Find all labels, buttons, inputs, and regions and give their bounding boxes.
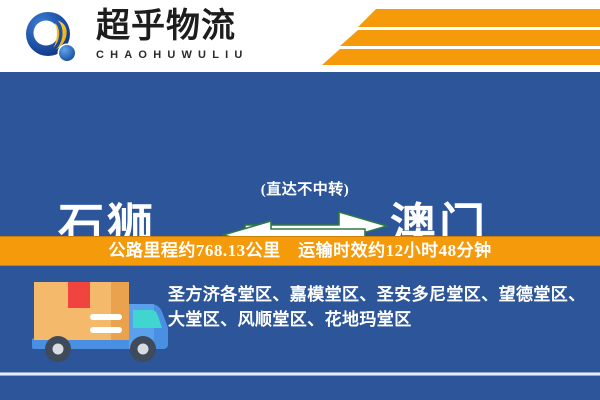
logistics-route-banner: 超乎物流 CHAOHUWULIU 石狮 (直达不中转) — [0, 0, 600, 400]
direct-shipping-note: (直达不中转) — [215, 180, 395, 200]
brand-wordmark: 超乎物流 CHAOHUWULIU — [96, 8, 266, 62]
distance-duration-text: 公路里程约768.13公里 运输时效约12小时48分钟 — [108, 241, 491, 261]
speed-stripes-icon — [270, 0, 600, 72]
brand-name-en: CHAOHUWULIU — [96, 48, 266, 62]
footer-band — [0, 376, 600, 400]
brand-name-cn: 超乎物流 — [96, 8, 266, 46]
coverage-areas-text: 圣方济各堂区、嘉模堂区、圣安多尼堂区、望德堂区、大堂区、风顺堂区、花地玛堂区 — [168, 282, 588, 332]
coverage-panel: 圣方济各堂区、嘉模堂区、圣安多尼堂区、望德堂区、大堂区、风顺堂区、花地玛堂区 — [0, 266, 600, 372]
distance-duration-bar: 公路里程约768.13公里 运输时效约12小时48分钟 — [0, 236, 600, 266]
banner-header: 超乎物流 CHAOHUWULIU — [0, 0, 600, 72]
delivery-truck-icon — [28, 274, 173, 366]
route-panel: 石狮 (直达不中转) 【往返运输】 澳门 — [0, 72, 600, 236]
circle-crescent-logo-icon — [24, 10, 80, 66]
